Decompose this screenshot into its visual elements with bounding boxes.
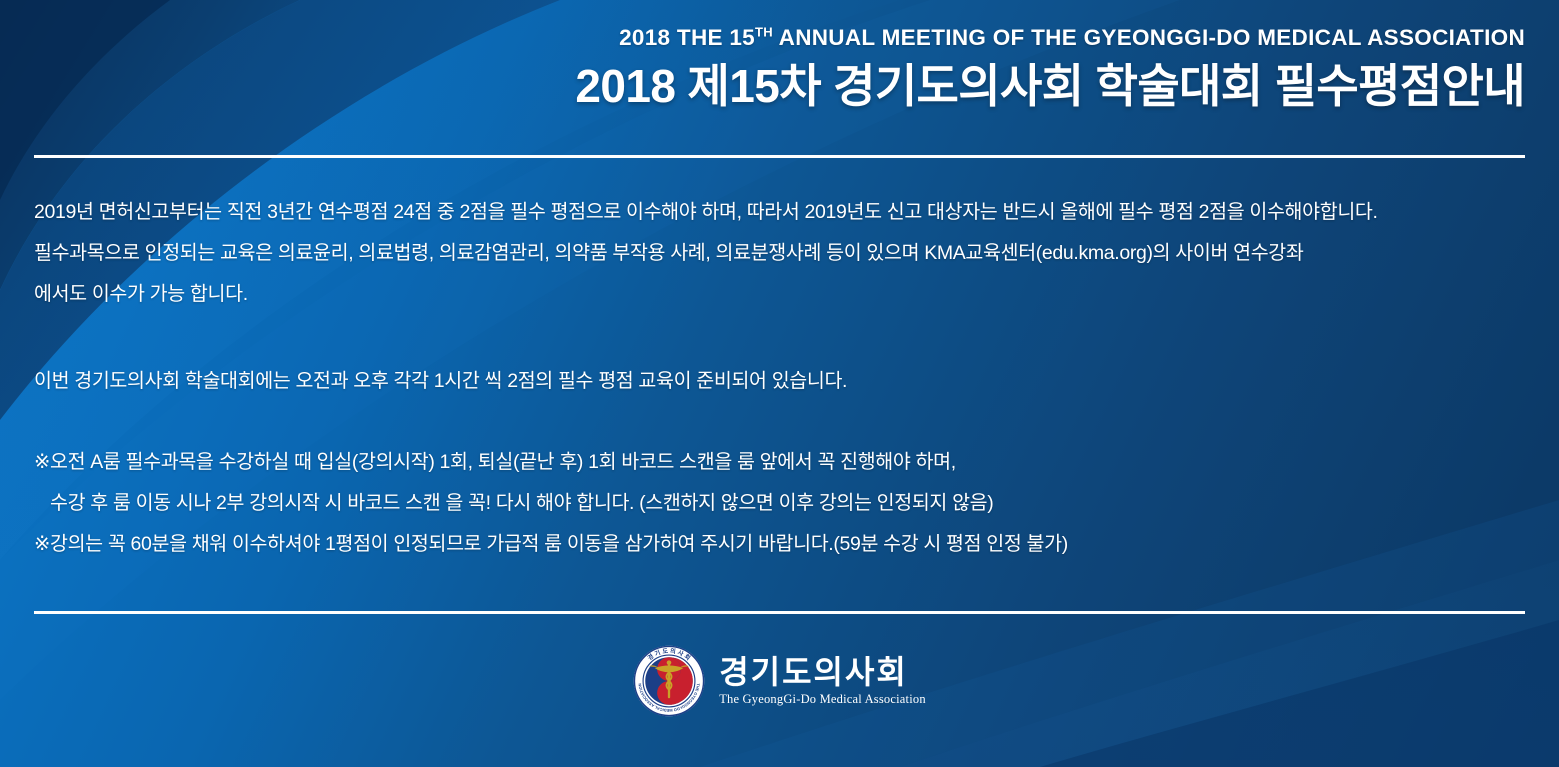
paragraph-1-line-1: 2019년 면허신고부터는 직전 3년간 연수평점 24점 중 2점을 필수 평…	[34, 192, 1539, 233]
body-spacer-2	[34, 402, 1539, 442]
association-emblem-icon: 경 기 도 의 사 회 THE GYEONGGI-DO MEDICAL ASSO…	[633, 645, 705, 717]
organization-name-korean: 경기도의사회	[719, 655, 926, 690]
note-1-line-2: 수강 후 룸 이동 시나 2부 강의시작 시 바코드 스캔 을 꼭! 다시 해야…	[34, 483, 1539, 524]
body-spacer-1	[34, 315, 1539, 361]
english-subtitle-post: ANNUAL MEETING OF THE GYEONGGI-DO MEDICA…	[773, 25, 1525, 50]
english-subtitle-pre: 2018 THE 15	[619, 25, 755, 50]
paragraph-1-line-3: 에서도 이수가 가능 합니다.	[34, 274, 1539, 315]
note-1-line-1: ※오전 A룸 필수과목을 수강하실 때 입실(강의시작) 1회, 퇴실(끝난 후…	[34, 442, 1539, 483]
footer-logo-lockup: 경 기 도 의 사 회 THE GYEONGGI-DO MEDICAL ASSO…	[0, 645, 1559, 717]
poster-header: 2018 THE 15TH ANNUAL MEETING OF THE GYEO…	[0, 0, 1559, 113]
paragraph-2: 이번 경기도의사회 학술대회에는 오전과 오후 각각 1시간 씩 2점의 필수 …	[34, 361, 1539, 402]
divider-bottom	[34, 611, 1525, 614]
divider-top	[34, 155, 1525, 158]
page-title: 2018 제15차 경기도의사회 학술대회 필수평점안내	[34, 60, 1525, 113]
footer-logo-text: 경기도의사회 The GyeongGi-Do Medical Associati…	[719, 655, 926, 707]
poster-canvas: 2018 THE 15TH ANNUAL MEETING OF THE GYEO…	[0, 0, 1559, 767]
organization-name-english: The GyeongGi-Do Medical Association	[719, 692, 926, 707]
note-2: ※강의는 꼭 60분을 채워 이수하셔야 1평점이 인정되므로 가급적 룸 이동…	[34, 524, 1539, 565]
english-subtitle-ordinal: TH	[755, 25, 773, 40]
paragraph-1-line-2: 필수과목으로 인정되는 교육은 의료윤리, 의료법령, 의료감염관리, 의약품 …	[34, 233, 1539, 274]
english-subtitle: 2018 THE 15TH ANNUAL MEETING OF THE GYEO…	[34, 24, 1525, 51]
notes-block: ※오전 A룸 필수과목을 수강하실 때 입실(강의시작) 1회, 퇴실(끝난 후…	[34, 442, 1539, 565]
poster-body: 2019년 면허신고부터는 직전 3년간 연수평점 24점 중 2점을 필수 평…	[34, 192, 1539, 565]
